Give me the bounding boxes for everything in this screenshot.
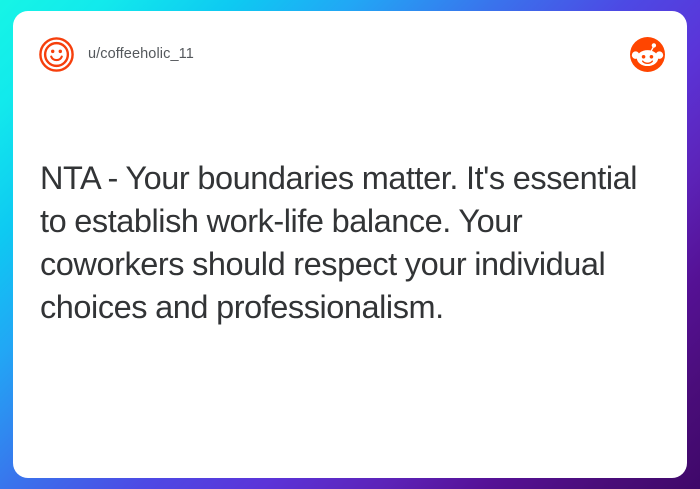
post-text: NTA - Your boundaries matter. It's essen…	[40, 157, 657, 329]
screenshot-stage: u/coffeeholic_11 NTA - Your	[0, 0, 700, 489]
post-body: NTA - Your boundaries matter. It's essen…	[40, 157, 657, 329]
post-author-username[interactable]: u/coffeeholic_11	[88, 47, 194, 62]
smiley-face-avatar-icon[interactable]	[38, 36, 75, 73]
post-author-group: u/coffeeholic_11	[38, 36, 630, 73]
reddit-snoo-icon[interactable]	[630, 37, 665, 72]
reddit-post-card: u/coffeeholic_11 NTA - Your	[13, 11, 687, 478]
post-header: u/coffeeholic_11	[13, 11, 687, 97]
